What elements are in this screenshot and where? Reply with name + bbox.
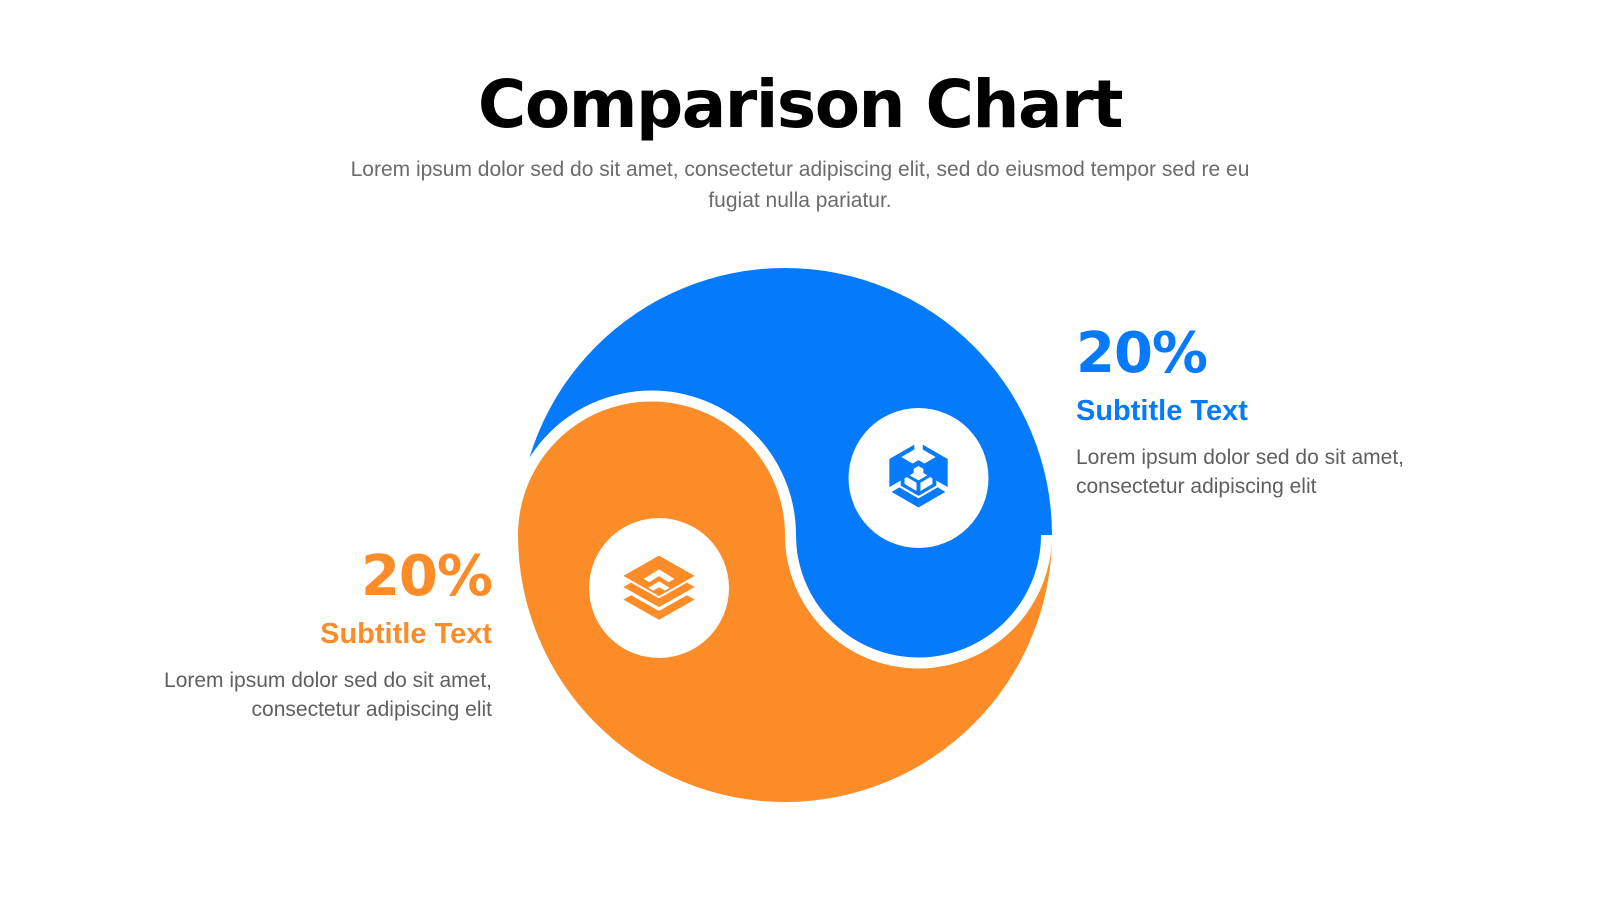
description-blue: Lorem ipsum dolor sed do sit amet, conse… <box>1076 443 1476 503</box>
callout-orange: 20% Subtitle Text Lorem ipsum dolor sed … <box>100 548 492 725</box>
description-orange: Lorem ipsum dolor sed do sit amet, conse… <box>100 666 492 726</box>
blue-icon-disc <box>849 408 989 548</box>
yin-yang-diagram <box>518 268 1052 802</box>
percent-value-orange: 20% <box>100 548 492 607</box>
subtitle-blue: Subtitle Text <box>1076 394 1476 429</box>
header: Comparison Chart Lorem ipsum dolor sed d… <box>0 70 1600 216</box>
callout-blue: 20% Subtitle Text Lorem ipsum dolor sed … <box>1076 325 1476 502</box>
page-subtitle: Lorem ipsum dolor sed do sit amet, conse… <box>350 155 1250 216</box>
slide-root: Comparison Chart Lorem ipsum dolor sed d… <box>0 0 1600 900</box>
percent-value-blue: 20% <box>1076 325 1476 384</box>
page-title: Comparison Chart <box>0 70 1600 139</box>
subtitle-orange: Subtitle Text <box>100 617 492 652</box>
